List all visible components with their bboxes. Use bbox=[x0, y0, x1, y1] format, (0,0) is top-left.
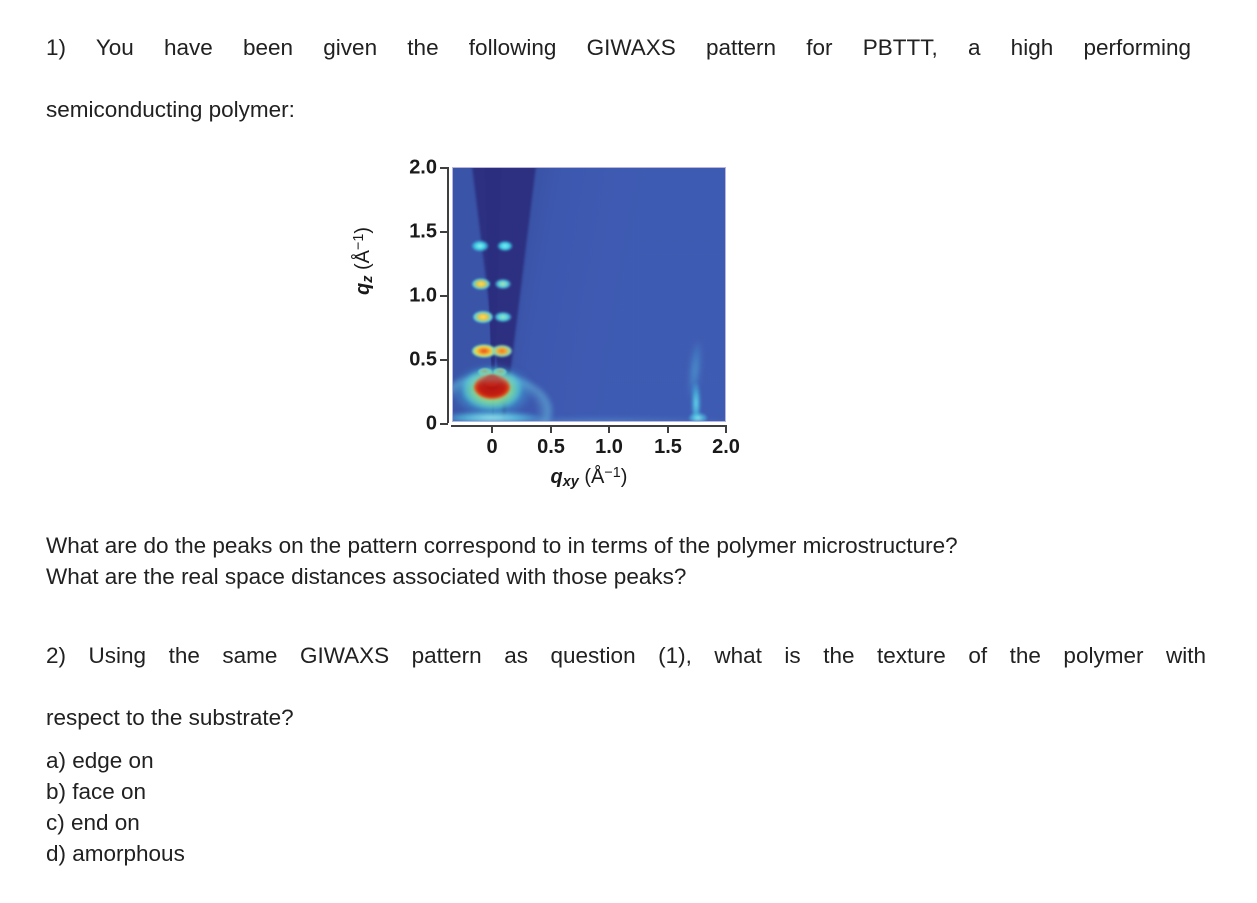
question-1-text: 1) You have been given the following GIW… bbox=[46, 32, 1191, 125]
x-tick-label-0: 0 bbox=[486, 436, 497, 459]
y-tick-label-0: 0 bbox=[426, 413, 437, 436]
y-tick-label-2.0: 2.0 bbox=[409, 157, 437, 180]
answer-option-a[interactable]: a) edge on bbox=[46, 745, 546, 776]
question-1-line-2: semiconducting polymer: bbox=[46, 97, 295, 122]
page-root: 1) You have been given the following GIW… bbox=[0, 0, 1257, 903]
answer-option-c[interactable]: c) end on bbox=[46, 807, 546, 838]
y-tick-label-1.5: 1.5 bbox=[409, 221, 437, 244]
question-2-line-2: respect to the substrate? bbox=[46, 705, 294, 730]
answer-option-b[interactable]: b) face on bbox=[46, 776, 546, 807]
y-tick-label-0.5: 0.5 bbox=[409, 349, 437, 372]
missing-wedge-shadow bbox=[472, 167, 536, 422]
y-tick-0 bbox=[440, 423, 448, 425]
x-tick-0 bbox=[491, 425, 493, 433]
question-2-line-1: 2) Using the same GIWAXS pattern as ques… bbox=[46, 640, 1206, 702]
x-tick-label-1.0: 1.0 bbox=[595, 436, 623, 459]
x-tick-label-1.5: 1.5 bbox=[654, 436, 682, 459]
y-tick-0.5 bbox=[440, 359, 448, 361]
giwaxs-heatmap-panel bbox=[452, 167, 726, 422]
answer-options-list: a) edge on b) face on c) end on d) amorp… bbox=[46, 745, 546, 869]
question-2-text: 2) Using the same GIWAXS pattern as ques… bbox=[46, 640, 1206, 733]
giwaxs-figure: qz (Å−1) 2.0 1.5 1.0 0.5 0 bbox=[355, 150, 755, 510]
y-tick-label-1.0: 1.0 bbox=[409, 285, 437, 308]
x-tick-label-0.5: 0.5 bbox=[537, 436, 565, 459]
y-tick-1.0 bbox=[440, 295, 448, 297]
x-tick-1.5 bbox=[667, 425, 669, 433]
x-tick-0.5 bbox=[550, 425, 552, 433]
question-1-followup-text: What are do the peaks on the pattern cor… bbox=[46, 530, 1066, 592]
question-1-line-1: 1) You have been given the following GIW… bbox=[46, 32, 1191, 94]
x-tick-label-2.0: 2.0 bbox=[712, 436, 740, 459]
answer-option-d[interactable]: d) amorphous bbox=[46, 838, 546, 869]
question-1-followup-line-2: What are the real space distances associ… bbox=[46, 564, 686, 589]
heatmap-canvas bbox=[453, 168, 725, 421]
x-axis-label: qxy (Å−1) bbox=[452, 465, 726, 490]
question-1-followup-line-1: What are do the peaks on the pattern cor… bbox=[46, 533, 958, 558]
y-tick-1.5 bbox=[440, 231, 448, 233]
x-tick-1.0 bbox=[608, 425, 610, 433]
y-axis-label: qz (Å−1) bbox=[351, 227, 376, 295]
y-tick-2.0 bbox=[440, 167, 448, 169]
x-tick-2.0 bbox=[725, 425, 727, 433]
missing-wedge-core bbox=[485, 167, 501, 422]
